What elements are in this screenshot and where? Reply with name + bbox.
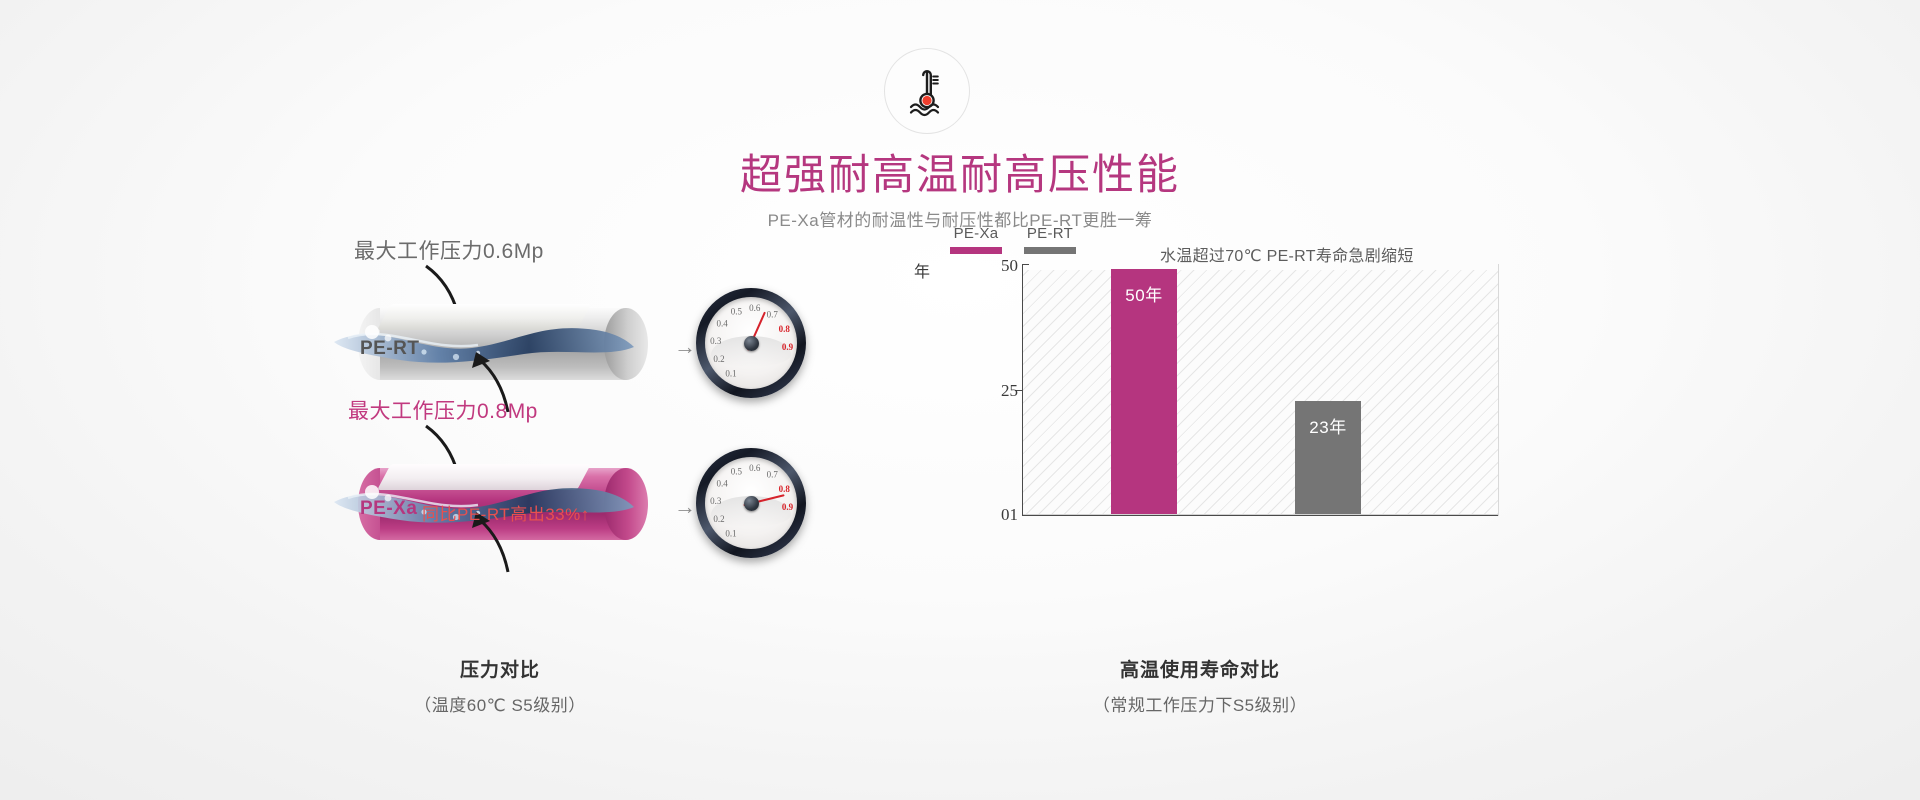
gauge-tick-0.5: 0.5 [731, 466, 742, 476]
gauge-face: 0.1 0.2 0.3 0.4 0.5 0.6 0.7 0.8 0.9 [705, 457, 797, 549]
pipe-label-pert: PE-RT [360, 338, 420, 360]
bar-value-pexa: 50年 [1111, 281, 1177, 306]
page-title: 超强耐高温耐高压性能 [0, 150, 1920, 200]
pressure-comparison-section: 最大工作压力0.6Mp [300, 230, 940, 650]
pipe-inner-wall [377, 304, 591, 330]
pipe-cap-right [604, 308, 648, 380]
bar-pexa: 50年 [1111, 269, 1177, 514]
pipe-label-pexa: PE-Xa [360, 498, 417, 520]
chart-annotation: 水温超过70℃ PE-RT寿命急剧缩短 [1160, 242, 1414, 266]
gauge-tick-0.7: 0.7 [767, 310, 778, 320]
legend-item-pert: PE-RT [1024, 225, 1076, 254]
chart-plot-area: 50年 23年 [1022, 270, 1498, 515]
gauge-tick-0.9: 0.9 [782, 342, 793, 352]
gauge-tick-0.5: 0.5 [731, 306, 742, 316]
flow-arrow-pert: → [674, 334, 696, 360]
pressure-gauge-pert: 0.1 0.2 0.3 0.4 0.5 0.6 0.7 0.8 0.9 [696, 288, 806, 398]
gauge-tick-0.2: 0.2 [713, 354, 724, 364]
gauge-tick-0.8: 0.8 [779, 324, 790, 334]
bar-value-pert: 23年 [1295, 413, 1361, 438]
pexa-gain-text: 同比PE-RT高出33%↑ [422, 500, 590, 525]
pipe-cap-right [604, 468, 648, 540]
gauge-tick-0.6: 0.6 [749, 303, 760, 313]
infographic-stage: 超强耐高温耐高压性能 PE-Xa管材的耐温性与耐压性都比PE-RT更胜一筹 最大… [0, 0, 1920, 800]
lifespan-chart-section: PE-Xa PE-RT 水温超过70℃ PE-RT寿命急剧缩短 50年 23年 [960, 230, 1640, 650]
pressure-caption-title: 压力对比 [300, 655, 700, 682]
gauge-tick-0.6: 0.6 [749, 463, 760, 473]
pressure-gauge-pexa: 0.1 0.2 0.3 0.4 0.5 0.6 0.7 0.8 0.9 [696, 448, 806, 558]
chart-ytick-label-01: 01 [1001, 505, 1018, 525]
gauge-tick-0.1: 0.1 [725, 368, 736, 378]
gauge-tick-0.8: 0.8 [779, 484, 790, 494]
pipe-inner-wall [377, 464, 591, 490]
chart-y-axis-top-tick [1022, 264, 1029, 265]
callout-pert-pressure: 最大工作压力0.6Mp [354, 235, 544, 265]
gauge-tick-0.9: 0.9 [782, 502, 793, 512]
legend-swatch-pert [1024, 247, 1076, 254]
bar-pert: 23年 [1295, 401, 1361, 514]
flow-arrow-pexa: → [674, 494, 696, 520]
gauge-tick-0.3: 0.3 [710, 496, 721, 506]
legend-item-pexa: PE-Xa [950, 225, 1002, 254]
gauge-hub [744, 496, 759, 511]
gauge-tick-0.4: 0.4 [717, 478, 728, 488]
pressure-caption-subtitle: （温度60℃ S5级别） [300, 691, 700, 716]
legend-label-pexa: PE-Xa [954, 225, 999, 242]
callout-pexa-pressure: 最大工作压力0.8Mp [348, 395, 538, 425]
chart-caption-title: 高温使用寿命对比 [1000, 655, 1400, 682]
gauge-tick-0.7: 0.7 [767, 470, 778, 480]
gauge-hub [744, 336, 759, 351]
gauge-tick-0.1: 0.1 [725, 528, 736, 538]
chart-caption-subtitle: （常规工作压力下S5级别） [1000, 691, 1400, 716]
chart-y-axis-unit: 年 [914, 258, 930, 282]
gauge-face: 0.1 0.2 0.3 0.4 0.5 0.6 0.7 0.8 0.9 [705, 297, 797, 389]
legend-label-pert: PE-RT [1027, 225, 1073, 242]
gauge-tick-0.2: 0.2 [713, 514, 724, 524]
chart-ytick-label-25: 25 [1001, 381, 1018, 401]
thermometer-water-icon [884, 48, 970, 134]
chart-legend: PE-Xa PE-RT [950, 225, 1076, 254]
gauge-tick-0.4: 0.4 [717, 318, 728, 328]
gauge-tick-0.3: 0.3 [710, 336, 721, 346]
chart-plot-right-edge [1498, 264, 1499, 516]
chart-x-axis [1022, 515, 1499, 516]
chart-y-axis [1022, 264, 1023, 516]
chart-ytick-label-50: 50 [1001, 256, 1018, 276]
legend-swatch-pexa [950, 247, 1002, 254]
